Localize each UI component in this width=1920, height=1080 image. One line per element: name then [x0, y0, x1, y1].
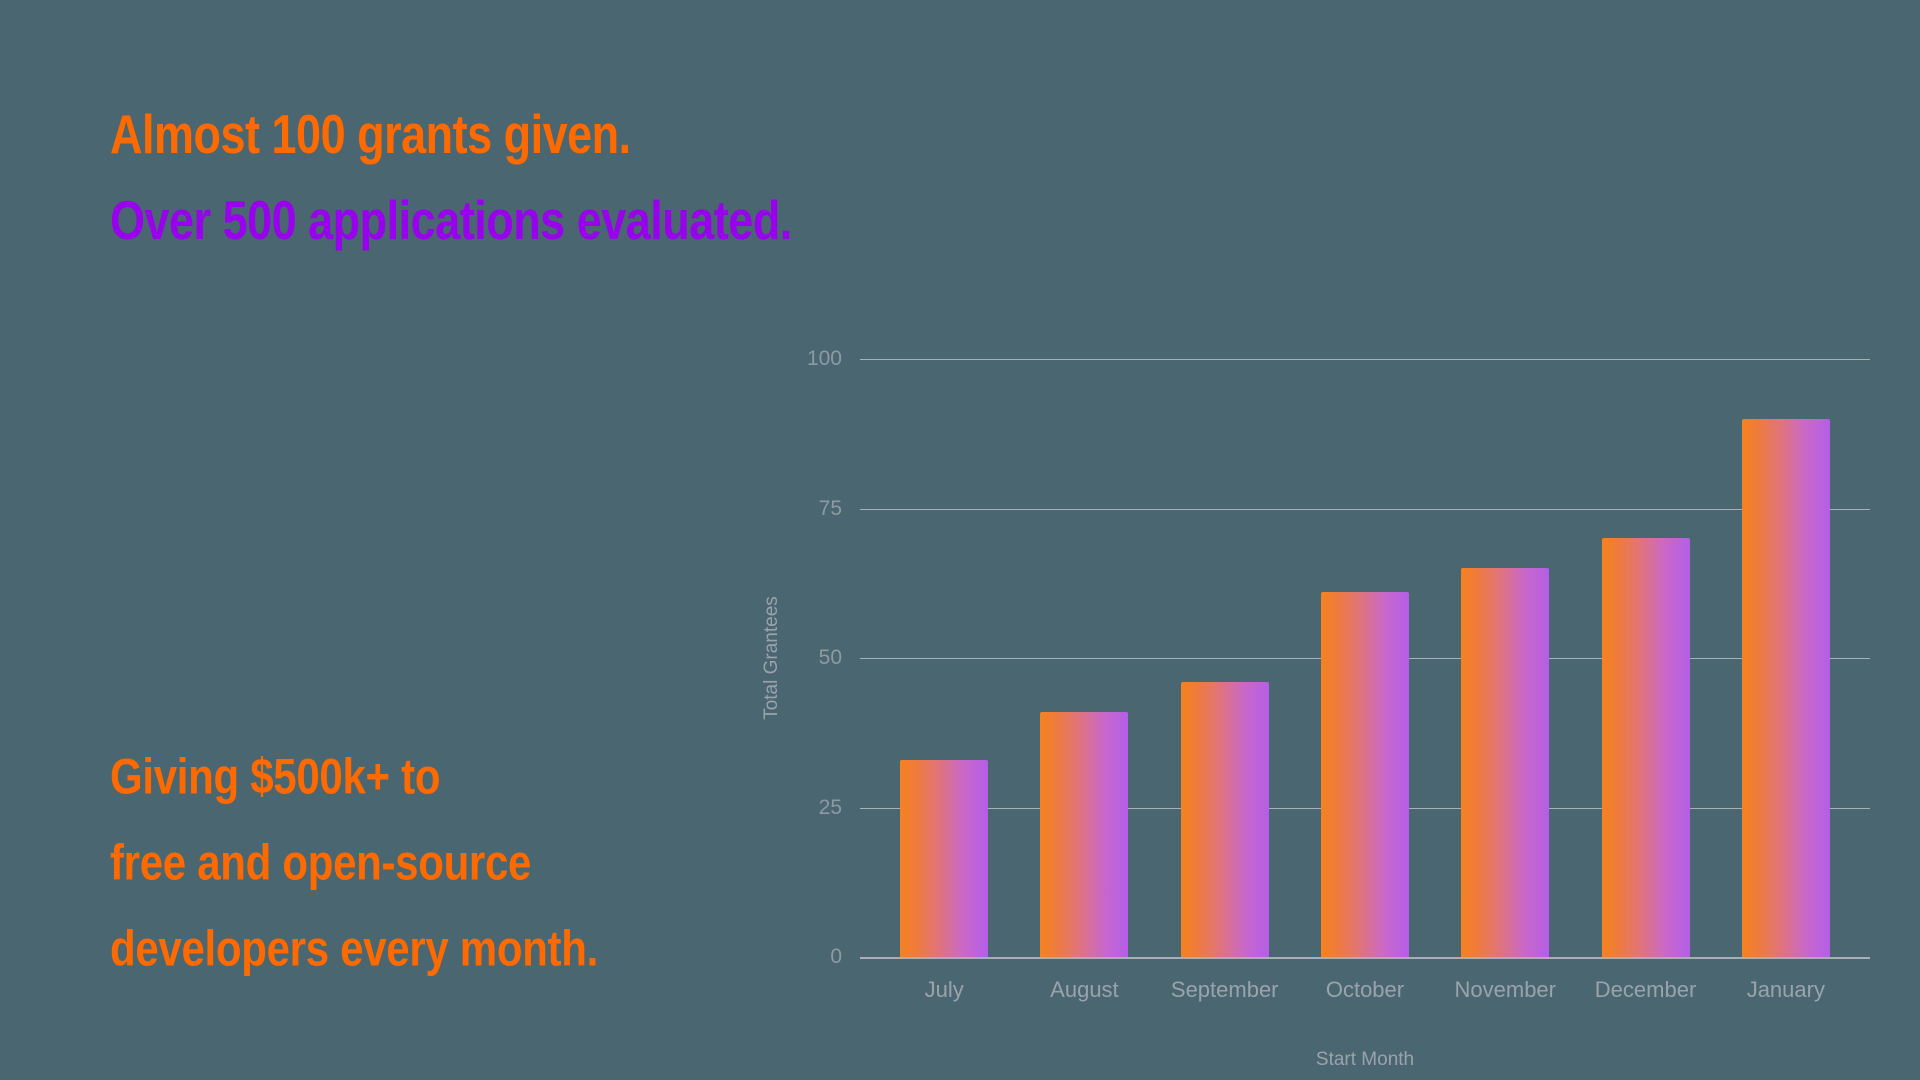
bar[interactable]: [1181, 682, 1269, 957]
bar[interactable]: [1321, 592, 1409, 957]
bar[interactable]: [1040, 712, 1128, 957]
y-axis-title: Total Grantees: [761, 596, 783, 720]
x-tick-label: August: [1050, 977, 1119, 1003]
plot-area: 0255075100 JulyAugustSeptemberOctoberNov…: [860, 359, 1870, 957]
x-tick-label: December: [1595, 977, 1696, 1003]
bar-group: August: [1014, 359, 1154, 957]
y-tick-label: 75: [819, 497, 842, 521]
grantees-bar-chart: Total Grantees 0255075100 JulyAugustSept…: [760, 330, 1870, 1030]
x-tick-label: October: [1326, 977, 1404, 1003]
y-tick-label: 50: [819, 646, 842, 670]
bar-group: October: [1295, 359, 1435, 957]
x-tick-label: January: [1747, 977, 1825, 1003]
x-tick-label: July: [925, 977, 964, 1003]
bar-group: July: [874, 359, 1014, 957]
headline-line-applications: Over 500 applications evaluated.: [110, 168, 1010, 273]
bar-group: September: [1155, 359, 1295, 957]
x-tick-label: September: [1171, 977, 1279, 1003]
x-axis-title: Start Month: [860, 1049, 1870, 1071]
y-tick-label: 25: [819, 796, 842, 820]
axis-baseline: 0: [860, 957, 1870, 959]
bar-series: JulyAugustSeptemberOctoberNovemberDecemb…: [860, 359, 1870, 957]
bar-group: November: [1435, 359, 1575, 957]
bar[interactable]: [1602, 538, 1690, 957]
bar-group: December: [1575, 359, 1715, 957]
bar-group: January: [1716, 359, 1856, 957]
statement-block: Giving $500k+ to free and open-source de…: [110, 725, 870, 983]
bar[interactable]: [1742, 419, 1830, 957]
x-tick-label: November: [1455, 977, 1556, 1003]
y-tick-label: 100: [807, 347, 842, 371]
bar[interactable]: [1461, 568, 1549, 957]
bar[interactable]: [900, 760, 988, 957]
statement-line-3: developers every month.: [110, 897, 870, 1000]
y-tick-label: 0: [830, 945, 842, 969]
headline-block: Almost 100 grants given. Over 500 applic…: [110, 82, 1010, 254]
